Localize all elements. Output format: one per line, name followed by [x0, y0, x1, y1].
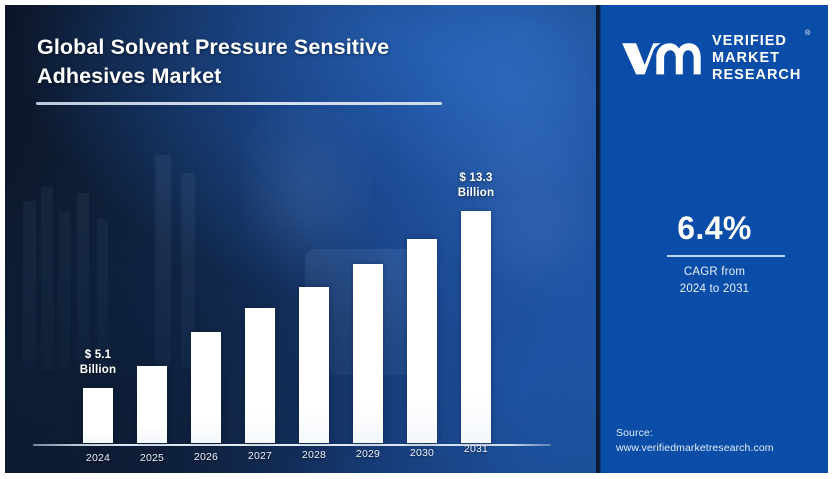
bar-chart: 2024 2025 2026 2027 2028 2029 2030 2031 …	[5, 5, 596, 473]
chart-panel: Global Solvent Pressure Sensitive Adhesi…	[5, 5, 596, 473]
cagr-divider	[667, 255, 785, 257]
x-tick-2024: 2024	[75, 452, 121, 464]
brand-line-verified: VERIFIED	[712, 33, 787, 49]
x-tick-2026: 2026	[183, 451, 229, 463]
x-tick-2028: 2028	[291, 449, 337, 461]
cagr-caption: CAGR from 2024 to 2031	[601, 264, 828, 297]
vmr-logo[interactable]: VERIFIED MARKET RESEARCH ®	[619, 33, 801, 83]
vmr-logo-icon	[619, 38, 703, 78]
x-tick-2031: 2031	[453, 443, 499, 455]
infographic-canvas: Global Solvent Pressure Sensitive Adhesi…	[5, 5, 828, 473]
brand-line-research: RESEARCH	[712, 67, 801, 83]
cagr-caption-line1: CAGR from	[601, 264, 828, 281]
source-label: Source:	[616, 426, 821, 441]
infographic-root: Global Solvent Pressure Sensitive Adhesi…	[0, 0, 834, 479]
brand-line-market: MARKET	[712, 50, 780, 66]
bar-2029[interactable]	[353, 264, 383, 443]
bar-2031[interactable]	[461, 211, 491, 443]
value-label-2031: $ 13.3 Billion	[441, 171, 511, 200]
source-block: Source: www.verifiedmarketresearch.com	[616, 426, 821, 456]
value-label-2031-amount: $ 13.3	[459, 172, 492, 184]
cagr-caption-line2: 2024 to 2031	[601, 281, 828, 298]
x-tick-2029: 2029	[345, 448, 391, 460]
value-label-2024-unit: Billion	[63, 363, 133, 378]
brand-panel: VERIFIED MARKET RESEARCH ® 6.4% CAGR fro…	[601, 5, 828, 473]
bar-2025[interactable]	[137, 366, 167, 443]
value-label-2024: $ 5.1 Billion	[63, 348, 133, 377]
bar-2026[interactable]	[191, 332, 221, 443]
x-tick-2030: 2030	[399, 447, 445, 459]
value-label-2031-unit: Billion	[441, 186, 511, 201]
cagr-value: 6.4%	[601, 210, 828, 247]
bar-2030[interactable]	[407, 239, 437, 443]
bar-2028[interactable]	[299, 287, 329, 443]
source-url[interactable]: www.verifiedmarketresearch.com	[616, 441, 821, 456]
x-tick-2027: 2027	[237, 450, 283, 462]
bar-2024[interactable]	[83, 388, 113, 443]
x-tick-2025: 2025	[129, 452, 175, 464]
value-label-2024-amount: $ 5.1	[85, 349, 112, 361]
bar-2027[interactable]	[245, 308, 275, 443]
vmr-logo-text: VERIFIED MARKET RESEARCH ®	[712, 33, 801, 83]
registered-trademark-icon: ®	[805, 29, 811, 38]
